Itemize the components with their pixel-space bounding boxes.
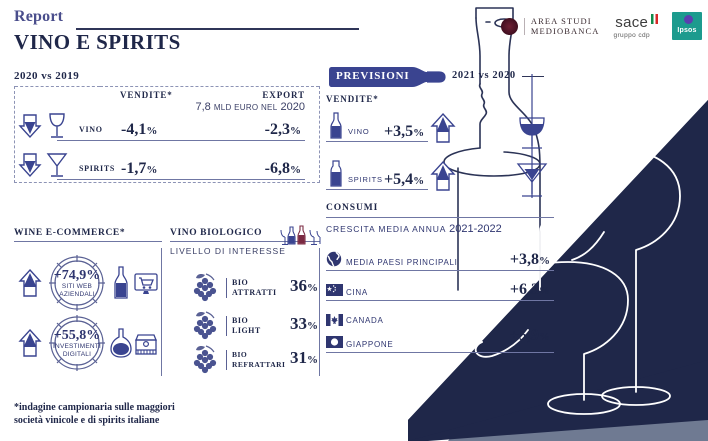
spirits-bottle-icon: [328, 160, 344, 188]
bottle-icon: [328, 112, 344, 140]
row-underline: [326, 300, 554, 301]
badge-value: +55,8%: [48, 328, 106, 344]
row-divider: [226, 278, 227, 298]
panel-previsioni: PREVISIONI 2021 vs 2020 VENDITE* VINO +3…: [326, 66, 526, 88]
logo-mediobanca: AREA STUDI MEDIOBANCA: [501, 16, 600, 36]
row-vendite-value: -4,1%: [121, 121, 157, 139]
row-underline: [326, 352, 554, 353]
header-rule: [76, 28, 359, 30]
logo-ipsos: Ipsos: [672, 12, 702, 40]
row-export-value: -6,8%: [265, 160, 301, 178]
row-export-value: -2,3%: [265, 121, 301, 139]
footnote-line1: *indagine campionaria sulle maggiori: [14, 402, 274, 415]
globe-icon: [326, 251, 342, 267]
panel-biologico-right-rule: [319, 248, 320, 376]
arrow-up-icon: [430, 112, 456, 144]
row-value: 33%: [290, 314, 318, 334]
row-value: +5,4%: [384, 171, 424, 189]
row-value: +6,3%: [510, 281, 550, 299]
panel-ecommerce-title: WINE E-COMMERCE*: [14, 228, 162, 238]
row-label: SPIRITS: [348, 175, 383, 184]
sace-wordmark: sace: [613, 14, 650, 31]
row-label: SPIRITS: [79, 164, 115, 173]
table-row: SPIRITS +5,4%: [326, 158, 466, 192]
footnote: *indagine campionaria sulle maggiori soc…: [14, 402, 274, 427]
arrow-up-icon: [18, 268, 42, 298]
footnote-line2: società vinicole e di spirits italiane: [14, 415, 274, 428]
list-item: CANADA +5,9%: [326, 307, 554, 329]
list-item: BIO LIGHT 33%: [190, 308, 318, 346]
list-item: BIO ATTRATTI 36%: [190, 270, 318, 308]
row-underline: [326, 270, 554, 271]
export-note-year: 2020: [281, 101, 305, 113]
mediobanca-seal-icon: [501, 18, 518, 35]
wine-glass-icon: [45, 112, 69, 140]
row-divider: [226, 316, 227, 336]
badge-label: SITI WEB AZIENDALI: [48, 283, 106, 298]
panel-wine-ecommerce: WINE E-COMMERCE* +74,9% SITI WEB AZIENDA…: [14, 228, 162, 380]
row-divider: [226, 350, 227, 370]
ipsos-wordmark: Ipsos: [672, 27, 702, 34]
page-header: Report VINO E SPIRITS: [14, 8, 359, 55]
mediobanca-line2: MEDIOBANCA: [531, 26, 600, 36]
row-label: VINO: [79, 125, 103, 134]
page-title: VINO E SPIRITS: [14, 30, 359, 55]
bottle-icon: [112, 266, 130, 300]
arrow-down-icon: [17, 152, 43, 178]
bottles-glasses-icon: [280, 222, 322, 248]
row-value: +3,5%: [384, 123, 424, 141]
logo-divider: [524, 18, 525, 35]
glass-stack-graphic: [502, 74, 562, 202]
decanter-icon: [110, 328, 132, 358]
table-row: SPIRITS -1,7% -6,8%: [17, 152, 315, 182]
table-row: VINO +3,5%: [326, 110, 466, 144]
row-underline: [57, 179, 305, 180]
panel-consumi-subtitle: CRESCITA MEDIA ANNUA 2021-2022: [326, 223, 576, 235]
row-label: MEDIA PAESI PRINCIPALI: [346, 258, 458, 267]
previsioni-banner: PREVISIONI: [326, 66, 444, 88]
row-label: BIO REFRATTARI: [232, 350, 285, 369]
list-item: MEDIA PAESI PRINCIPALI +3,8%: [326, 247, 554, 271]
mediobanca-line1: AREA STUDI: [531, 16, 600, 26]
list-item: CINA +6,3%: [326, 277, 554, 301]
row-vendite-value: -1,7%: [121, 160, 157, 178]
ecommerce-badge: +55,8% INVESTIMENTI DIGITALI: [48, 314, 106, 372]
panel-2020-vs-2019: 2020 vs 2019 VENDITE* EXPORT 7,8 MLD EUR…: [14, 70, 320, 183]
badge-value: +74,9%: [48, 268, 106, 284]
row-value: 31%: [290, 348, 318, 368]
grapes-icon: [190, 310, 220, 344]
mediobanca-wordmark: AREA STUDI MEDIOBANCA: [531, 16, 600, 36]
panel-vino-biologico: VINO BIOLOGICO LIVELLO DI INTERESSE: [170, 228, 320, 380]
row-label: GIAPPONE: [346, 340, 393, 349]
badge-label: INVESTIMENTI DIGITALI: [48, 343, 106, 358]
export-note: 7,8 MLD EURO NEL 2020: [195, 101, 305, 113]
row-label: CINA: [346, 288, 368, 297]
logo-sace: sace gruppo cdp: [613, 14, 658, 39]
logo-bar: AREA STUDI MEDIOBANCA sace gruppo cdp Ip…: [501, 12, 702, 40]
row-label: CANADA: [346, 316, 384, 325]
cocktail-glass-icon: [45, 151, 69, 179]
arrow-up-icon: [18, 328, 42, 358]
column-header-vendite: VENDITE*: [120, 90, 173, 100]
panel-ecommerce-right-rule: [161, 248, 162, 376]
panel-2020-body: VENDITE* EXPORT 7,8 MLD EURO NEL 2020 VI…: [14, 86, 320, 183]
arrow-up-icon: [430, 160, 456, 192]
panel-consumi: CONSUMI CRESCITA MEDIA ANNUA 2021-2022 M…: [326, 203, 576, 235]
flag-canada-icon: [326, 314, 343, 326]
arrow-down-icon: [17, 113, 43, 139]
consumi-subtitle-years: 2021-2022: [449, 223, 502, 235]
italy-flag-icon: [651, 14, 658, 24]
row-label: BIO ATTRATTI: [232, 278, 277, 297]
panel-2020-title: 2020 vs 2019: [14, 70, 320, 82]
ipsos-dot-icon: [684, 15, 693, 24]
panel-consumi-rule: [326, 217, 554, 218]
previsioni-column-header: VENDITE*: [326, 94, 379, 104]
previsioni-banner-label: PREVISIONI: [336, 70, 409, 82]
row-underline: [57, 140, 305, 141]
grapes-icon: [190, 344, 220, 378]
export-note-text: MLD EURO NEL: [214, 103, 278, 112]
flag-japan-icon: [326, 336, 343, 348]
grapes-icon: [190, 272, 220, 306]
table-row: VINO -4,1% -2,3%: [17, 113, 315, 143]
report-label: Report: [14, 8, 63, 26]
ecommerce-badge: +74,9% SITI WEB AZIENDALI: [48, 254, 106, 312]
list-item: BIO REFRATTARI 31%: [190, 342, 318, 380]
flag-china-icon: [326, 284, 343, 296]
panel-consumi-title: CONSUMI: [326, 203, 576, 213]
sace-subtitle: gruppo cdp: [613, 32, 650, 39]
export-note-value: 7,8: [195, 101, 210, 113]
row-value: 36%: [290, 276, 318, 296]
column-header-export: EXPORT: [262, 90, 305, 100]
row-value: +3,8%: [510, 251, 550, 269]
shop-icon: [134, 332, 158, 356]
row-label: BIO LIGHT: [232, 316, 261, 335]
consumi-subtitle-text: CRESCITA MEDIA ANNUA: [326, 224, 446, 234]
row-label: VINO: [348, 127, 370, 136]
infographic-page: Report VINO E SPIRITS AREA STUDI MEDIOBA…: [0, 0, 708, 441]
monitor-cart-icon: [134, 272, 158, 296]
panel-ecommerce-rule: [14, 241, 162, 242]
list-item: GIAPPONE: [326, 329, 554, 353]
